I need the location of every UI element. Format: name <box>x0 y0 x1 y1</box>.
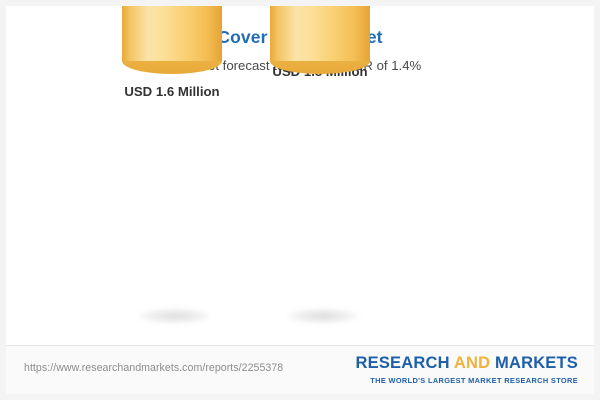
logo-word-and: AND <box>450 354 495 372</box>
report-url[interactable]: https://www.researchandmarkets.com/repor… <box>24 362 283 374</box>
logo-word-markets: MARKETS <box>495 354 578 372</box>
bar-shadow-2023 <box>138 308 212 324</box>
bar-value-label-2023: USD 1.6 Million <box>92 84 252 99</box>
brand-logo[interactable]: RESEARCH AND MARKETS THE WORLD'S LARGEST… <box>356 355 579 385</box>
bar-shadow-2030 <box>286 308 360 324</box>
bar-base-body-2030 <box>270 6 370 61</box>
chart-plot-area: USD 1.6 Million 2023 USD 1.8 Million <box>6 6 594 346</box>
logo-tagline: THE WORLD'S LARGEST MARKET RESEARCH STOR… <box>356 376 579 385</box>
footer: https://www.researchandmarkets.com/repor… <box>6 345 594 394</box>
bar-base-body-2023 <box>122 6 222 61</box>
logo-wordmark: RESEARCH AND MARKETS <box>356 355 579 372</box>
bar-group-2030: USD 1.8 Million 2030 <box>240 96 400 346</box>
bar-group-2023: USD 1.6 Million 2023 <box>92 96 252 346</box>
infographic-card: Cover Glass Market Market forecast to gr… <box>6 6 594 394</box>
logo-word-research: RESEARCH <box>356 354 450 372</box>
